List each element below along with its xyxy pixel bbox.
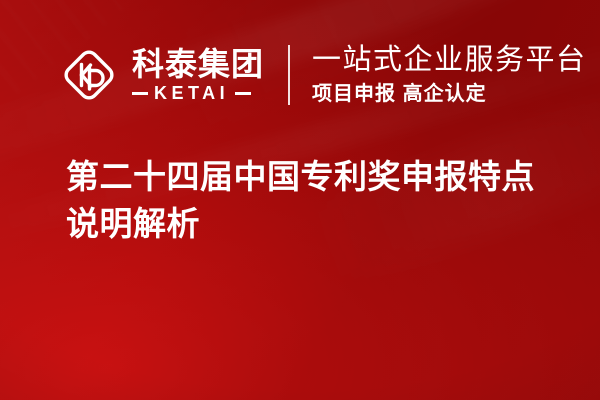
promo-banner: 科泰集团 KETAI 一站式企业服务平台 项目申报 高企认定 第二十四届中国专利… <box>0 0 600 400</box>
slogan-main: 一站式企业服务平台 <box>312 44 587 76</box>
ketai-diamond-monogram-icon <box>58 44 120 106</box>
company-name-en: KETAI <box>154 84 229 102</box>
company-name-en-row: KETAI <box>132 84 264 102</box>
company-name-cn: 科泰集团 <box>132 48 264 81</box>
slogan-sub: 项目申报 高企认定 <box>312 82 587 106</box>
brand-lockup: 科泰集团 KETAI <box>58 44 264 106</box>
wordmark: 科泰集团 KETAI <box>132 48 264 102</box>
page-title: 第二十四届中国专利奖申报特点说明解析 <box>66 153 552 247</box>
header-divider <box>288 45 290 105</box>
wordmark-rule-left <box>132 92 148 95</box>
wordmark-rule-right <box>235 92 251 95</box>
slogan-group: 一站式企业服务平台 项目申报 高企认定 <box>312 44 587 105</box>
banner-header: 科泰集团 KETAI 一站式企业服务平台 项目申报 高企认定 <box>0 34 600 116</box>
